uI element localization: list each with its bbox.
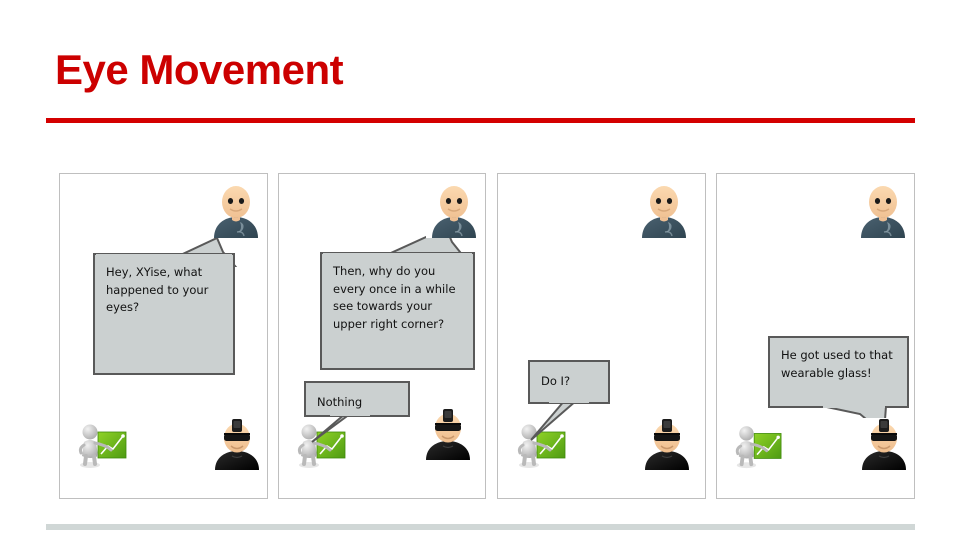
presenter-chart-figure-icon: [515, 418, 567, 470]
tail-seam-cover: [549, 399, 589, 403]
slide-canvas: Eye Movement Hey, XYise, what happened t…: [0, 0, 960, 540]
speech-bubble-panel4: He got used to that wearable glass!: [768, 336, 909, 408]
tail-seam-cover: [96, 254, 232, 258]
bald-man-avatar-icon: [426, 182, 482, 238]
sunglasses-man-avatar-icon: [422, 408, 474, 460]
bald-man-avatar-icon: [636, 182, 692, 238]
bald-man-avatar-icon: [208, 182, 264, 238]
page-title: Eye Movement: [55, 45, 343, 95]
speech-bubble-panel3: Do I?: [528, 360, 610, 404]
footer-rule: [46, 524, 915, 530]
tail-seam-cover: [330, 412, 370, 416]
bald-man-avatar-icon: [855, 182, 911, 238]
presenter-chart-figure-icon: [733, 420, 783, 470]
speech-bubble-panel2-main: Then, why do you every once in a while s…: [320, 252, 475, 370]
tail-seam-cover: [823, 404, 885, 408]
speech-bubble-panel1: Hey, XYise, what happened to your eyes?: [93, 253, 235, 375]
tail-seam-cover: [323, 253, 472, 257]
title-underline-rule: [46, 118, 915, 123]
presenter-chart-figure-icon: [76, 418, 128, 470]
presenter-chart-figure-icon: [295, 418, 347, 470]
sunglasses-man-avatar-icon: [211, 418, 263, 470]
sunglasses-man-avatar-icon: [641, 418, 693, 470]
sunglasses-man-avatar-icon: [858, 418, 910, 470]
